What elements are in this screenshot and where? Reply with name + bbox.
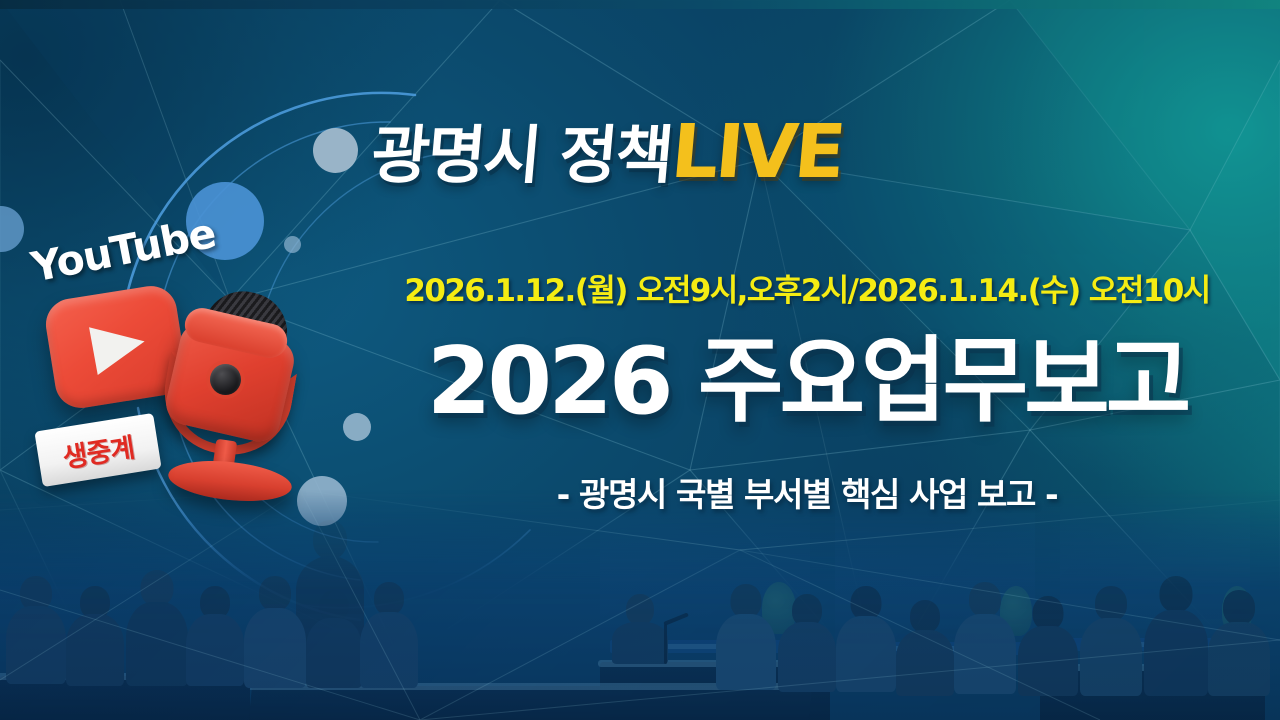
live-broadcast-label-text: 생중계 [60, 425, 137, 475]
play-triangle-icon [85, 316, 149, 378]
live-broadcast-label: 생중계 [34, 413, 161, 487]
poster-text-block: 광명시 정책LIVE 2026.1.12.(월) 오전9시,오후2시/2026.… [330, 0, 1280, 720]
headline: 2026 주요업무보고 [342, 333, 1272, 431]
program-title-white: 광명시 정책 [369, 119, 675, 192]
poster-canvas: YouTube 생중계 광명시 정책LIVE 2026.1.12.(월) 오전9… [0, 0, 1280, 720]
youtube-live-badge-group: YouTube 생중계 [16, 236, 316, 532]
schedule-line: 2026.1.12.(월) 오전9시,오후2시/2026.1.14.(수) 오전… [342, 265, 1272, 310]
program-title-live: LIVE [668, 109, 846, 195]
subtitle: - 광명시 국별 부서별 핵심 사업 보고 - [342, 468, 1272, 516]
microphone-icon [158, 290, 308, 510]
microphone-capsule-knob [210, 364, 241, 395]
program-title: 광명시 정책LIVE [369, 115, 846, 189]
microphone-base [166, 456, 293, 507]
